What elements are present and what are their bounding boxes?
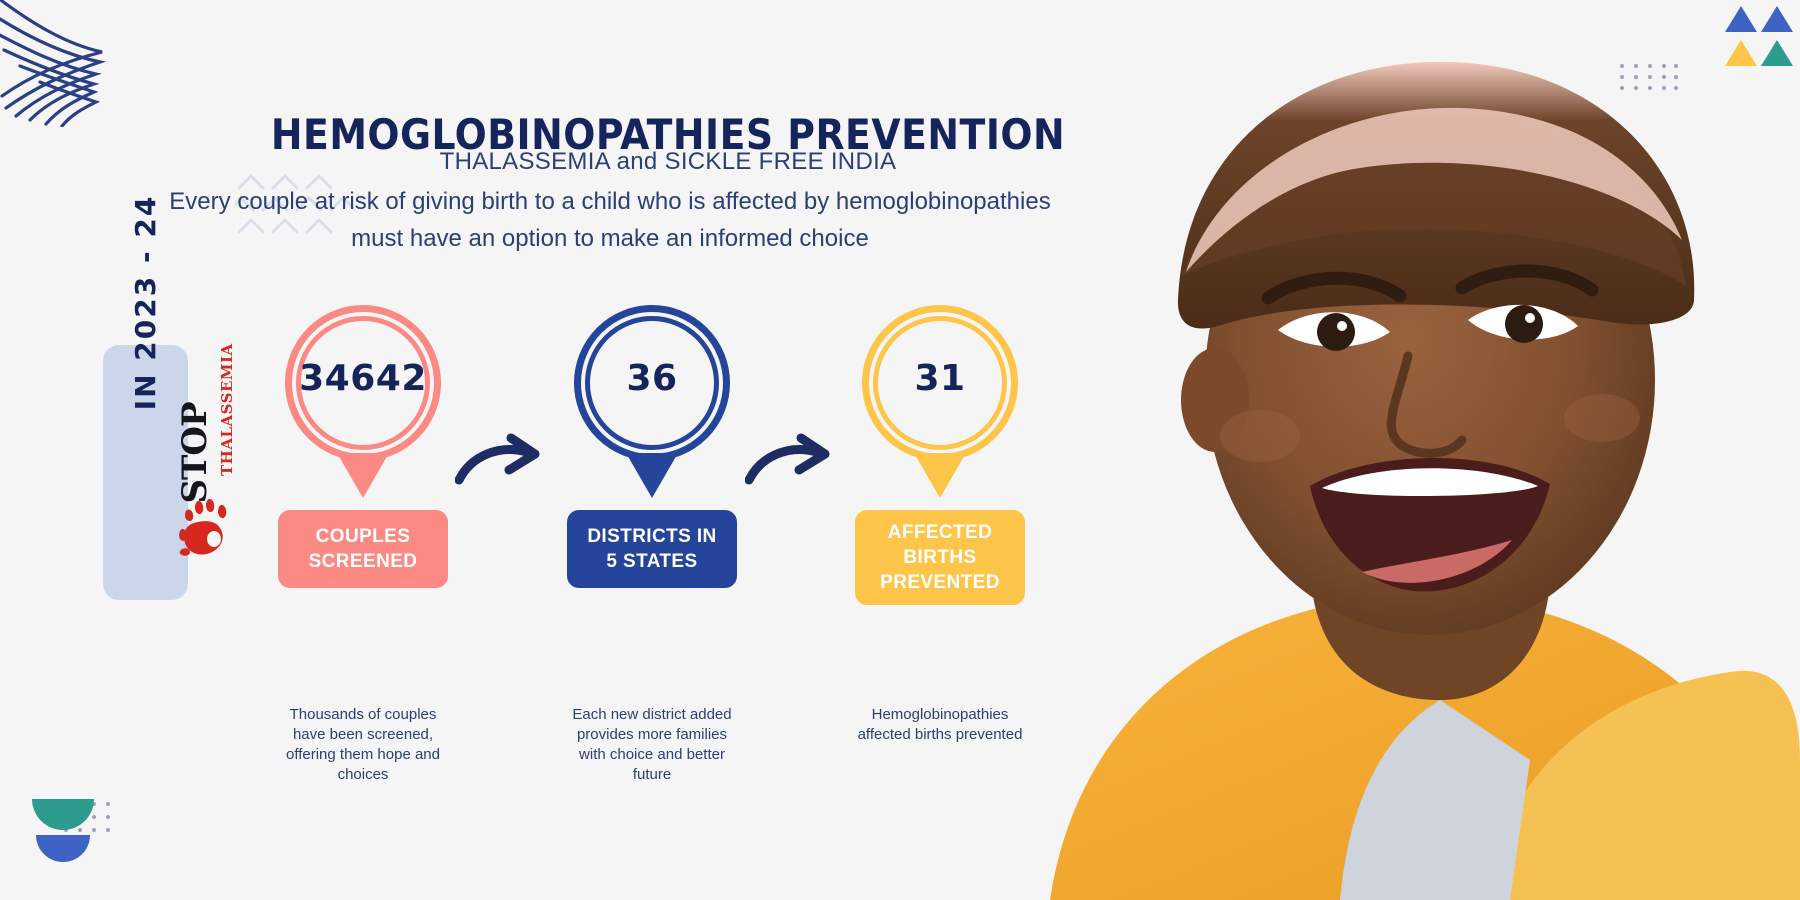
stat-circle: 31 (825, 305, 1055, 500)
smiling-child-photo (1010, 0, 1800, 900)
dot-grid-icon (62, 800, 114, 845)
stat-label-line-2: SCREENED (309, 549, 418, 574)
stat-circle: 36 (537, 305, 767, 500)
stat-label-card: COUPLES SCREENED (278, 510, 448, 588)
stat-value: 34642 (248, 358, 478, 399)
stat-label-line-1: COUPLES (309, 524, 418, 549)
stat-label: AFFECTED BIRTHS PREVENTED (880, 520, 1000, 595)
page-lede: Every couple at risk of giving birth to … (110, 183, 1110, 257)
stat-value: 36 (537, 358, 767, 399)
curved-arrow-right-icon (455, 432, 547, 493)
stat-label-line-2: 5 STATES (587, 549, 716, 574)
logo-thalassemia-text: THALASSEMIA (217, 354, 237, 476)
stat-step-births-prevented: 31 AFFECTED BIRTHS PREVENTED Hemoglobino… (825, 305, 1055, 500)
handprint-icon (176, 497, 234, 564)
stat-label-card: DISTRICTS IN 5 STATES (567, 510, 737, 588)
pointer-tail-icon (626, 453, 678, 498)
stat-label-line-1: DISTRICTS IN (587, 524, 716, 549)
stat-circle: 34642 (248, 305, 478, 500)
pointer-tail-icon (914, 453, 966, 498)
stat-label-line-3: PREVENTED (880, 570, 1000, 595)
stat-label: COUPLES SCREENED (309, 524, 418, 574)
half-circle-icon (28, 795, 98, 872)
stat-description: Thousands of couples have been screened,… (273, 705, 453, 785)
stop-thalassemia-logo: STOP THALASSEMIA (172, 385, 242, 565)
stat-label-line-1: AFFECTED (880, 520, 1000, 545)
pointer-tail-icon (337, 453, 389, 498)
stat-step-couples-screened: 34642 COUPLES SCREENED Thousands of coup… (248, 305, 478, 500)
stat-label: DISTRICTS IN 5 STATES (587, 524, 716, 574)
curved-arrow-right-icon (745, 432, 837, 493)
stat-step-districts: 36 DISTRICTS IN 5 STATES Each new distri… (537, 305, 767, 500)
lede-line-1: Every couple at risk of giving birth to … (110, 183, 1110, 220)
scribble-doodle-icon (0, 0, 150, 132)
stat-value: 31 (825, 358, 1055, 399)
stat-description: Hemoglobinopathies affected births preve… (850, 705, 1030, 745)
stat-label-line-2: BIRTHS (880, 545, 1000, 570)
infographic-canvas: HEMOGLOBINOPATHIES PREVENTION THALASSEMI… (0, 0, 1800, 900)
lede-line-2: must have an option to make an informed … (110, 220, 1110, 257)
stat-label-card: AFFECTED BIRTHS PREVENTED (855, 510, 1025, 605)
page-subtitle: THALASSEMIA and SICKLE FREE INDIA (238, 148, 1098, 176)
stat-description: Each new district added provides more fa… (562, 705, 742, 785)
